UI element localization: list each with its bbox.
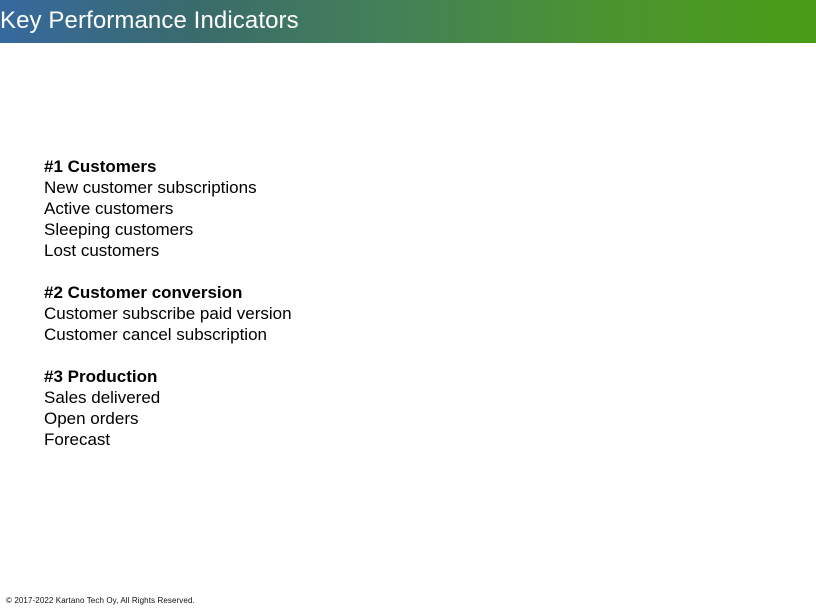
footer-copyright: © 2017-2022 Kartano Tech Oy, All Rights … <box>6 595 195 606</box>
kpi-group-1-item-2: Active customers <box>44 198 564 219</box>
slide-canvas: Key Performance Indicators #1 Customers … <box>0 0 816 613</box>
kpi-group-3-heading: #3 Production <box>44 366 564 387</box>
page-title: Key Performance Indicators <box>0 6 299 36</box>
kpi-group-3-item-3: Forecast <box>44 429 564 450</box>
kpi-content-block: #1 Customers New customer subscriptions … <box>44 156 564 450</box>
kpi-group-2: #2 Customer conversion Customer subscrib… <box>44 282 564 345</box>
kpi-group-1-item-3: Sleeping customers <box>44 219 564 240</box>
kpi-group-1: #1 Customers New customer subscriptions … <box>44 156 564 261</box>
kpi-group-2-heading: #2 Customer conversion <box>44 282 564 303</box>
kpi-group-3-item-1: Sales delivered <box>44 387 564 408</box>
kpi-group-2-item-1: Customer subscribe paid version <box>44 303 564 324</box>
kpi-group-2-item-2: Customer cancel subscription <box>44 324 564 345</box>
kpi-group-1-heading: #1 Customers <box>44 156 564 177</box>
slide-title-bar: Key Performance Indicators <box>0 0 816 43</box>
kpi-group-1-item-4: Lost customers <box>44 240 564 261</box>
kpi-group-3: #3 Production Sales delivered Open order… <box>44 366 564 450</box>
kpi-group-1-item-1: New customer subscriptions <box>44 177 564 198</box>
kpi-group-3-item-2: Open orders <box>44 408 564 429</box>
